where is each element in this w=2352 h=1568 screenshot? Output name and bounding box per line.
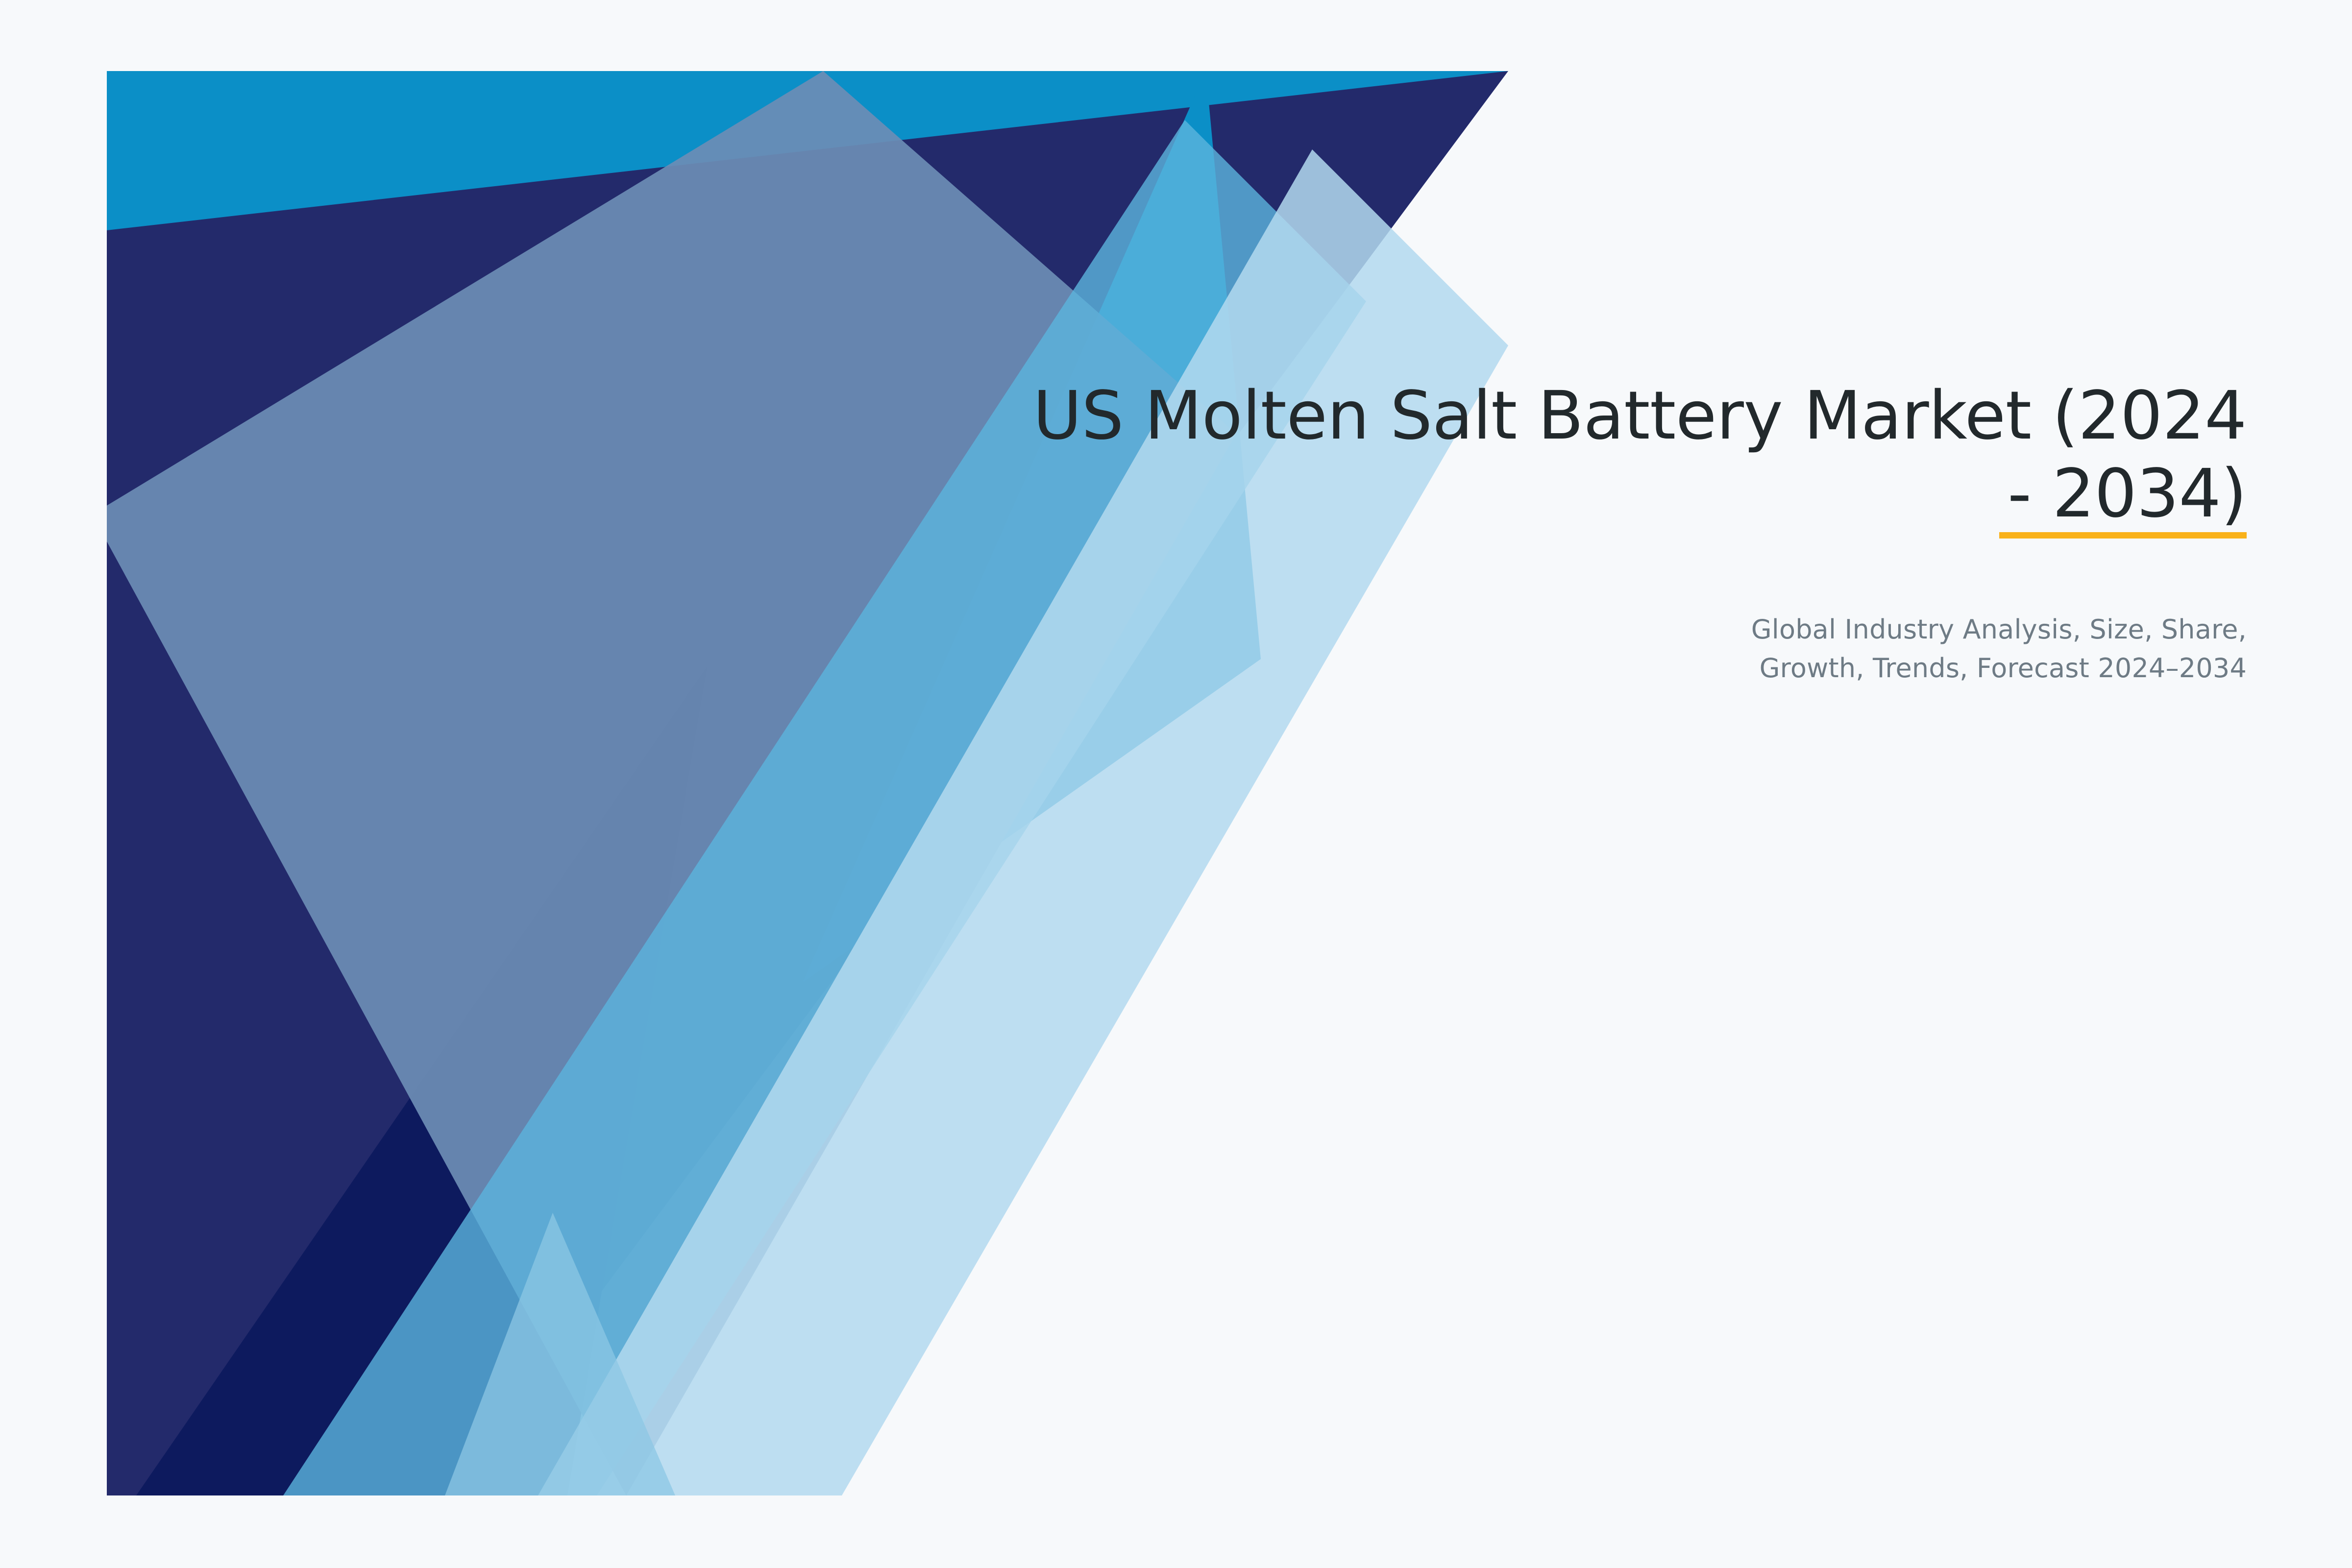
cover-slide: US Molten Salt Battery Market (2024- 203…: [0, 0, 2352, 1568]
subtitle-line-1: Global Industry Analysis, Size, Share,: [1751, 614, 2247, 645]
page-title: US Molten Salt Battery Market (2024- 203…: [833, 377, 2247, 533]
cover-text-block: US Molten Salt Battery Market (2024- 203…: [833, 377, 2247, 687]
title-wrap: US Molten Salt Battery Market (2024- 203…: [833, 377, 2247, 533]
page-subtitle: Global Industry Analysis, Size, Share,Gr…: [833, 533, 2247, 687]
abstract-geometric-cover-graphic: [107, 71, 1508, 1495]
subtitle-line-2: Growth, Trends, Forecast 2024–2034: [1760, 653, 2247, 684]
title-line-2: - 2034): [2008, 455, 2247, 533]
artwork-svg: [107, 71, 1508, 1495]
title-line-1: US Molten Salt Battery Market (2024: [1033, 377, 2247, 455]
